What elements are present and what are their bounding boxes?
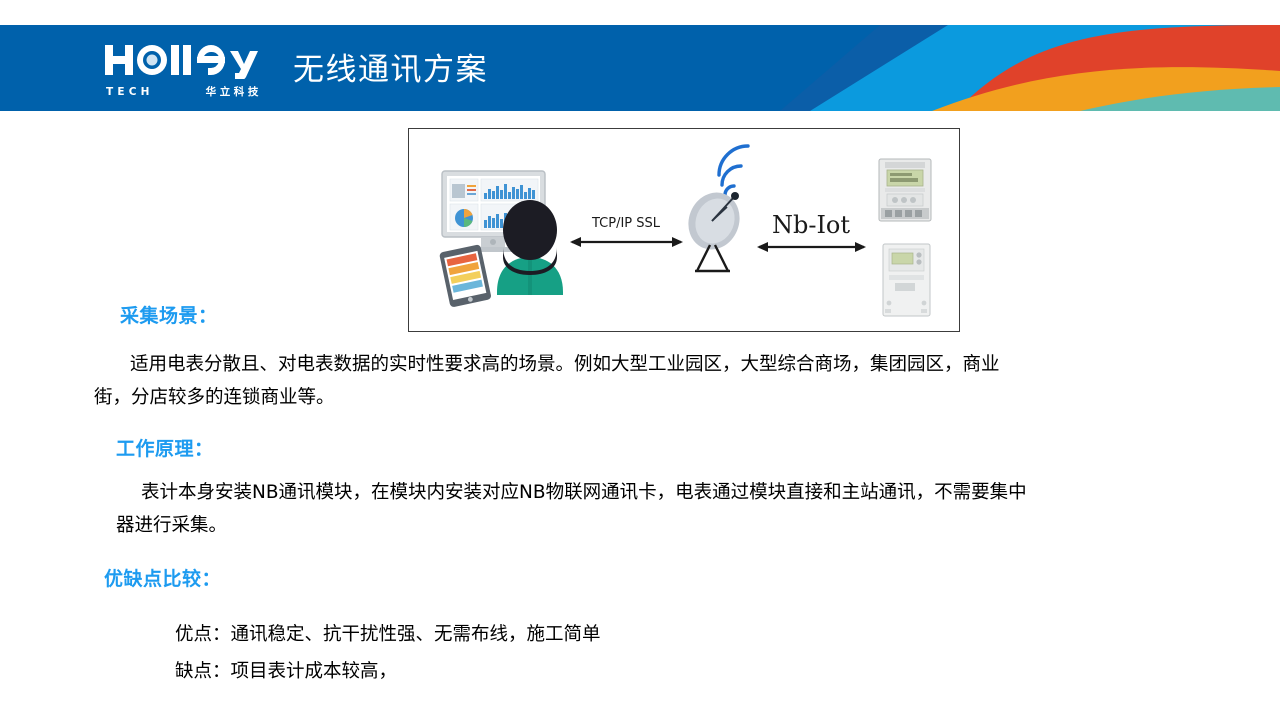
- nbiot-label: Nb-Iot: [772, 211, 850, 239]
- advantage-item: 优点：通讯稳定、抗干扰性强、无需布线，施工简单: [175, 616, 601, 653]
- section-heading-scene: 采集场景：: [120, 303, 218, 329]
- body-line: 器进行采集。: [116, 509, 1216, 542]
- diagram-canvas: TCP/IP SSL: [409, 129, 959, 331]
- section-heading-pros-cons: 优缺点比较：: [104, 566, 221, 592]
- body-line: 适用电表分散且、对电表数据的实时性要求高的场景。例如大型工业园区，大型综合商场，…: [130, 348, 1210, 381]
- disadvantage-item: 缺点：项目表计成本较高，: [175, 653, 601, 690]
- holley-wordmark-icon: [104, 41, 266, 79]
- smart-meter-bottom-icon: [883, 244, 930, 316]
- body-line: 街，分店较多的连锁商业等。: [94, 381, 1210, 414]
- architecture-diagram: TCP/IP SSL: [408, 128, 960, 332]
- header-swoosh-graphic: [780, 25, 1280, 111]
- slide-root: TECH 华立科技 无线通讯方案: [0, 0, 1280, 720]
- logo-sub-cn: 华立科技: [206, 84, 262, 99]
- tcpip-link: TCP/IP SSL: [570, 216, 683, 247]
- holley-logo: TECH 华立科技: [104, 41, 266, 96]
- tablet-icon: [439, 244, 492, 308]
- logo-sub-en: TECH: [106, 86, 154, 98]
- page-title: 无线通讯方案: [293, 50, 488, 90]
- antenna-icon: [680, 146, 748, 271]
- logo-subtitle: TECH 华立科技: [104, 84, 262, 99]
- body-line: 表计本身安装NB通讯模块，在模块内安装对应NB物联网通讯卡，电表通过模块直接和主…: [141, 476, 1216, 509]
- section-heading-principle: 工作原理：: [116, 436, 214, 462]
- tcpip-label: TCP/IP SSL: [591, 216, 661, 231]
- section-body-principle: 表计本身安装NB通讯模块，在模块内安装对应NB物联网通讯卡，电表通过模块直接和主…: [141, 476, 1216, 542]
- nbiot-link: Nb-Iot: [757, 211, 866, 252]
- section-body-scene: 适用电表分散且、对电表数据的实时性要求高的场景。例如大型工业园区，大型综合商场，…: [130, 348, 1210, 414]
- section-body-pros-cons: 优点：通讯稳定、抗干扰性强、无需布线，施工简单 缺点：项目表计成本较高，: [175, 616, 601, 690]
- smart-meter-top-icon: [879, 159, 931, 221]
